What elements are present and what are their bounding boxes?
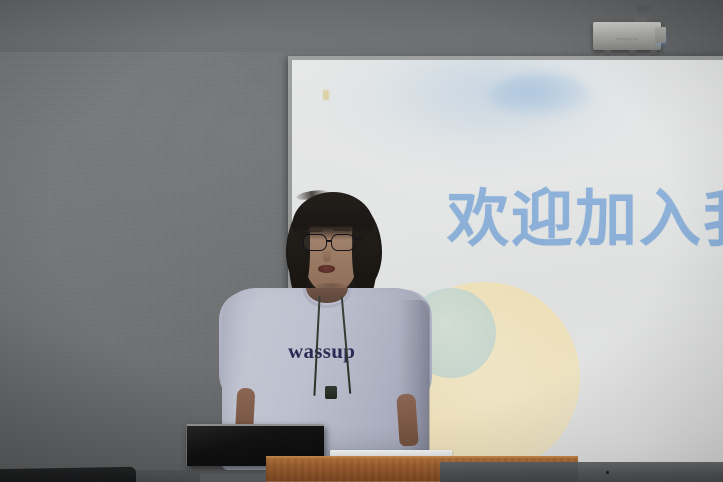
presenter-right-forearm bbox=[396, 393, 419, 446]
classroom-presentation-photo: PROJECTOR 欢迎加入我 bbox=[0, 0, 723, 482]
eyeglasses-right-lens-icon bbox=[331, 234, 355, 251]
desk-speck bbox=[606, 471, 609, 474]
foreground-desk-middle bbox=[440, 462, 580, 482]
dark-object-lower-left bbox=[0, 467, 136, 482]
presenter: wassup bbox=[0, 0, 723, 482]
foreground-desk-right bbox=[578, 462, 723, 482]
presenter-nose bbox=[323, 248, 331, 262]
presenter-mouth-speaking bbox=[318, 265, 335, 273]
lanyard-clip bbox=[325, 386, 337, 399]
eyeglasses-bridge bbox=[326, 240, 332, 242]
